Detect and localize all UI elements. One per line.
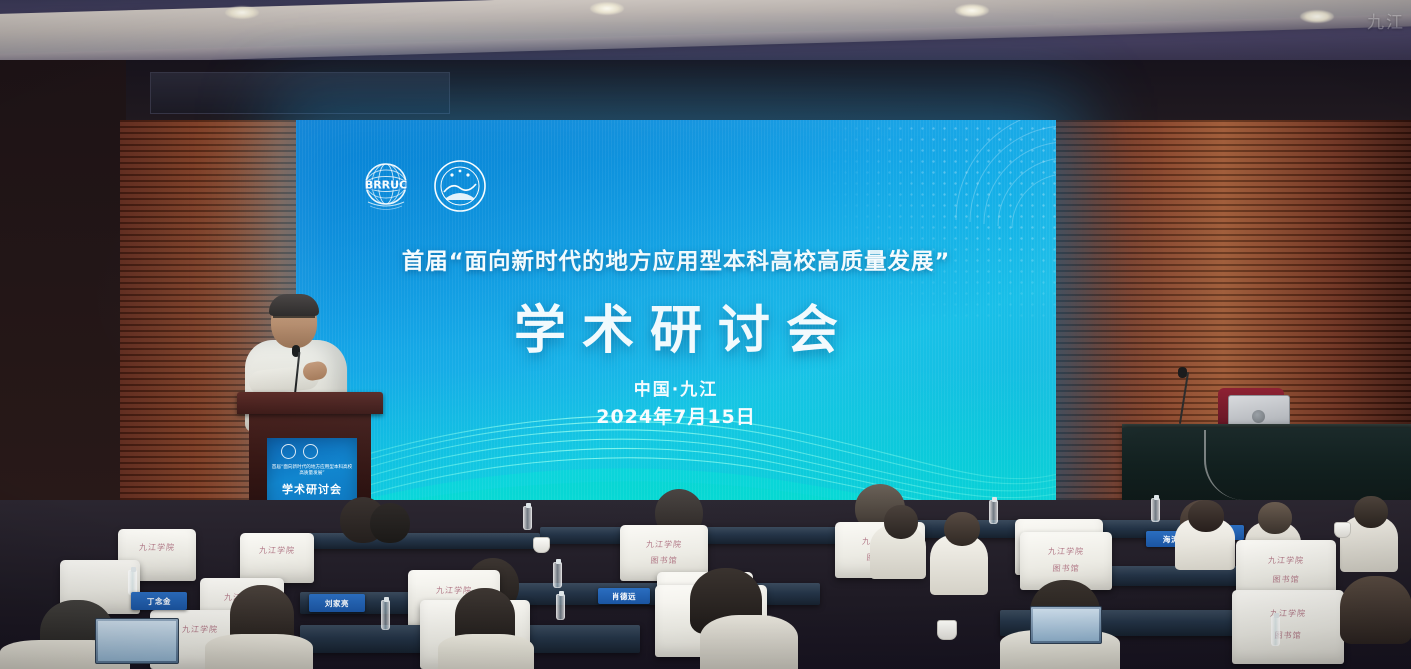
audience-head xyxy=(1188,500,1224,532)
audience-member xyxy=(700,615,798,669)
water-bottle xyxy=(1151,498,1160,522)
namecard: 肖德远 xyxy=(598,588,650,604)
screen-conference-subtitle: 学术研讨会 xyxy=(296,288,1056,363)
audience-member xyxy=(370,503,410,543)
water-bottle xyxy=(556,594,565,620)
brruc-globe-icon: BRRUC xyxy=(358,158,414,214)
water-bottle xyxy=(523,506,532,530)
screen-location: 中国·九江 xyxy=(296,375,1056,400)
podium-top xyxy=(237,392,383,414)
audience-chair: 九江学院 图书馆 xyxy=(1232,590,1344,664)
led-stage-screen: BRRUC 首届“面向新时代的地方应用型本科高校高质量发展” xyxy=(296,120,1056,520)
jiujiang-university-seal-icon xyxy=(432,158,488,214)
chair-cover-text: 图书馆 xyxy=(1231,631,1344,641)
namecard: 丁念金 xyxy=(131,592,187,610)
water-bottle xyxy=(553,562,562,588)
chair-cover-text: 图书馆 xyxy=(1019,564,1112,574)
svg-text:BRRUC: BRRUC xyxy=(365,179,407,192)
namecard: 刘家亮 xyxy=(309,594,365,612)
chair-cover-text: 九江学院 xyxy=(619,540,708,550)
watermark-label: 九江 xyxy=(1367,8,1405,33)
audience-head xyxy=(1354,496,1388,528)
water-bottle xyxy=(989,500,998,524)
audience-chair: 九江学院 xyxy=(240,533,314,583)
screen-date: 2024年7月15日 xyxy=(296,402,1056,429)
audience-member xyxy=(205,634,313,669)
water-bottle xyxy=(381,600,390,630)
chair-cover-text: 九江学院 xyxy=(1231,609,1344,619)
chair-cover-text: 九江学院 xyxy=(1019,547,1112,557)
ceiling-downlight xyxy=(955,4,989,17)
audience-head xyxy=(1258,502,1292,534)
namecard-text: 刘家亮 xyxy=(325,598,349,609)
screen-conference-title: 首届“面向新时代的地方应用型本科高校高质量发展” xyxy=(296,244,1056,276)
audience-head xyxy=(944,512,980,546)
speaker-hair xyxy=(269,294,319,316)
microphone-cable xyxy=(1204,430,1284,500)
water-bottle xyxy=(1271,616,1280,646)
audience-laptop xyxy=(1030,606,1102,644)
podium-university-logo-icon xyxy=(303,444,318,459)
audience-member xyxy=(1340,576,1411,644)
laptop-brand-logo-icon xyxy=(1252,410,1265,423)
tea-cup xyxy=(1334,522,1351,538)
podium-sign-title: 首届“面向新时代的地方应用型本科高校高质量发展” xyxy=(271,465,353,477)
audience-member xyxy=(438,634,534,669)
ceiling-downlight xyxy=(1300,10,1334,23)
chair-cover-text: 九江学院 xyxy=(1235,556,1336,566)
podium-sign-logos xyxy=(281,444,318,459)
audience-head xyxy=(884,505,918,539)
chair-cover-text: 图书馆 xyxy=(619,556,708,566)
podium-brruc-logo-icon xyxy=(281,444,296,459)
ceiling-downlight xyxy=(590,2,624,15)
speaker-glasses xyxy=(273,316,315,325)
tea-cup xyxy=(937,620,957,640)
namecard-text: 丁念金 xyxy=(147,596,171,607)
screen-logo-group: BRRUC xyxy=(358,158,488,214)
audience-laptop xyxy=(95,618,179,664)
wall-glass-panel xyxy=(150,72,450,114)
tea-cup xyxy=(533,537,550,553)
chair-cover-text: 九江学院 xyxy=(239,546,314,556)
namecard-text: 肖德远 xyxy=(612,591,636,602)
ceiling-downlight xyxy=(225,6,259,19)
conference-photo: BRRUC 首届“面向新时代的地方应用型本科高校高质量发展” xyxy=(0,0,1411,669)
podium-sign-subtitle: 学术研讨会 xyxy=(271,481,353,497)
chair-cover-text: 图书馆 xyxy=(1235,575,1336,585)
audience-table xyxy=(300,533,540,549)
screen-arc-pattern xyxy=(806,120,1056,310)
chair-cover-text: 九江学院 xyxy=(117,543,196,553)
